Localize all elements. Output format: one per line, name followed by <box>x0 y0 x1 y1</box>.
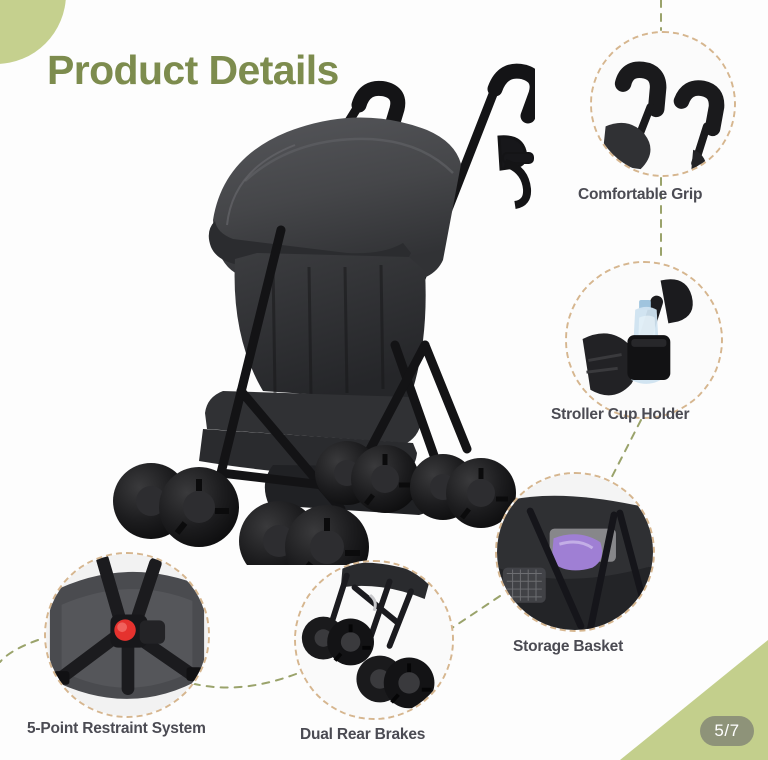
comfortable-grip-circle[interactable] <box>590 31 736 177</box>
storage-basket-circle[interactable] <box>495 472 655 632</box>
storage-basket-label: Storage Basket <box>513 638 623 656</box>
product-details-slide: Product Details <box>0 0 768 760</box>
dual-rear-brakes-label: Dual Rear Brakes <box>300 726 425 744</box>
comfortable-grip-label: Comfortable Grip <box>578 186 702 204</box>
stroller-cup-holder-label: Stroller Cup Holder <box>551 406 689 424</box>
storage-basket-icon <box>497 474 653 630</box>
rear-wheels-icon <box>296 562 452 718</box>
hero-stroller-image <box>95 45 535 565</box>
harness-icon <box>46 554 208 716</box>
hero-cup-holder <box>499 137 533 205</box>
wheel-cluster-rear-right <box>410 454 516 528</box>
dual-rear-brakes-circle[interactable] <box>294 560 454 720</box>
five-point-restraint-label: 5-Point Restraint System <box>27 720 206 738</box>
wheel-cluster-front-left <box>113 463 239 547</box>
cup-holder-icon <box>567 263 721 417</box>
handle-grips-icon <box>592 33 734 175</box>
five-point-restraint-circle[interactable] <box>44 552 210 718</box>
page-indicator: 5/7 <box>700 716 754 746</box>
wheel-cluster-front-right <box>239 501 369 565</box>
stored-item <box>552 534 603 570</box>
stroller-cup-holder-circle[interactable] <box>565 261 723 419</box>
seat-back <box>235 253 426 401</box>
